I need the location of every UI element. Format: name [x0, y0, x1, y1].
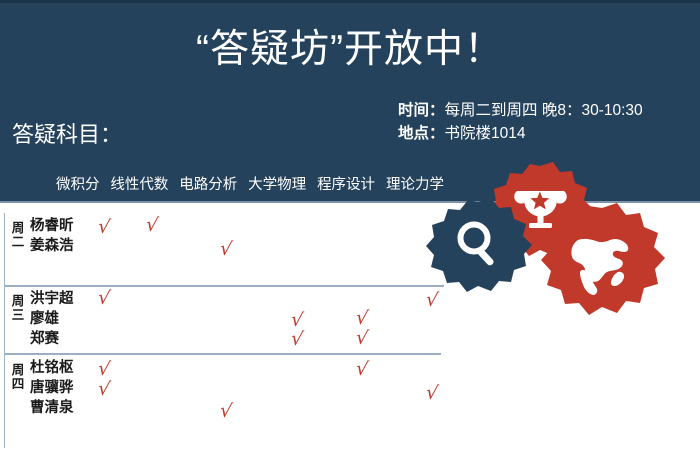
header-top-accent-line	[0, 0, 700, 3]
subject-item: 电路分析	[178, 175, 238, 195]
tutor-name: 郑赛	[30, 329, 74, 349]
tutor-name-cell: 杨睿昕姜森浩	[30, 216, 74, 256]
checkmark-icon: √	[290, 329, 305, 350]
checkmark-icon: √	[219, 401, 234, 422]
tutor-name: 廖雄	[30, 309, 74, 329]
subject-item: 线性代数	[109, 175, 169, 195]
time-value: 每周二到周四 晚8：30-10:30	[445, 102, 643, 119]
day-char: 周	[10, 363, 26, 377]
tutor-name: 曹清泉	[30, 398, 74, 418]
day-char: 周	[10, 221, 26, 235]
checkmark-icon: √	[219, 239, 234, 260]
day-char: 三	[10, 308, 26, 322]
day-cell: 周二	[10, 221, 26, 249]
slide-canvas: “答疑坊”开放中！ 时间：每周二到周四 晚8：30-10:30 地点：书院楼10…	[0, 0, 700, 473]
tutor-name: 杜铭枢	[30, 358, 74, 378]
tutor-name: 姜森浩	[30, 236, 74, 256]
table-row-divider-2	[4, 353, 441, 355]
day-char: 周	[10, 294, 26, 308]
tutor-name: 唐骥骅	[30, 378, 74, 398]
event-info: 时间：每周二到周四 晚8：30-10:30 地点：书院楼1014	[398, 99, 643, 145]
info-line-time: 时间：每周二到周四 晚8：30-10:30	[398, 99, 643, 122]
tutor-name: 洪宇超	[30, 289, 74, 309]
table-left-border	[4, 213, 5, 448]
checkmark-icon: √	[97, 288, 112, 309]
tutor-name-cell: 洪宇超廖雄郑赛	[30, 289, 74, 349]
page-title: “答疑坊”开放中！	[0, 26, 700, 74]
checkmark-icon: √	[97, 379, 112, 400]
checkmark-icon: √	[97, 217, 112, 238]
subject-item: 程序设计	[316, 175, 376, 195]
subject-item: 大学物理	[247, 175, 307, 195]
place-value: 书院楼1014	[445, 125, 526, 142]
tutor-name: 杨睿昕	[30, 216, 74, 236]
tutor-name-cell: 杜铭枢唐骥骅曹清泉	[30, 358, 74, 418]
subject-list: 微积分线性代数电路分析大学物理程序设计理论力学	[55, 175, 445, 195]
subject-item: 微积分	[55, 175, 101, 195]
day-char: 四	[10, 377, 26, 391]
subjects-heading: 答疑科目：	[12, 120, 122, 150]
checkmark-icon: √	[425, 383, 440, 404]
gears-graphic	[420, 158, 700, 338]
day-cell: 周三	[10, 294, 26, 322]
checkmark-icon: √	[355, 359, 370, 380]
day-char: 二	[10, 235, 26, 249]
table-row-divider-1	[4, 285, 444, 287]
info-line-place: 地点：书院楼1014	[398, 122, 643, 145]
checkmark-icon: √	[355, 328, 370, 349]
day-cell: 周四	[10, 363, 26, 391]
place-label: 地点：	[398, 125, 445, 142]
checkmark-icon: √	[145, 215, 160, 236]
time-label: 时间：	[398, 102, 445, 119]
